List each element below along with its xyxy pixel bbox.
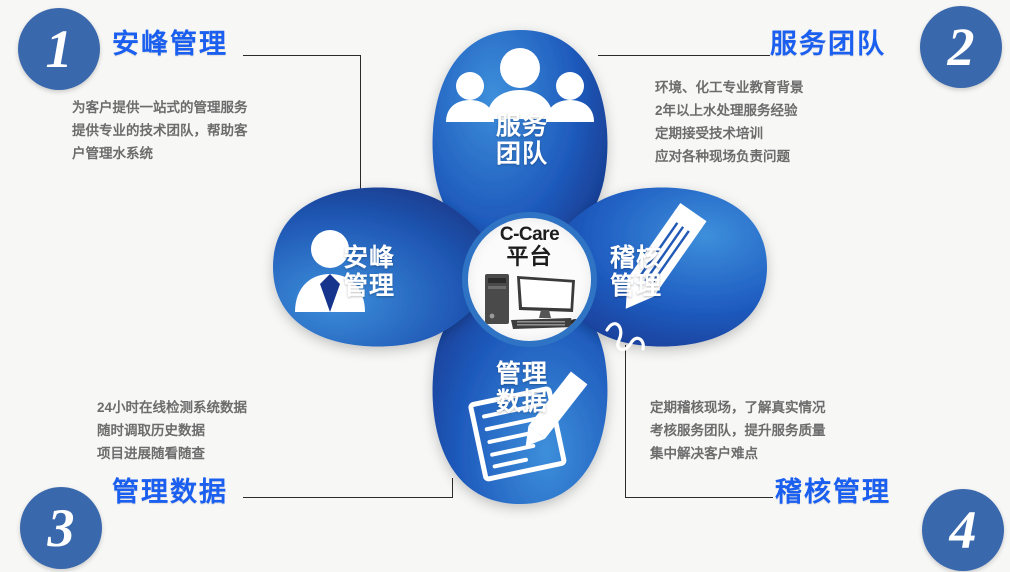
section-body-4: 定期稽核现场，了解真实情况 考核服务团队，提升服务质量 集中解决客户难点 (650, 396, 826, 465)
section-number-3: 3 (20, 487, 102, 569)
hub-subtitle: 平台 (468, 245, 591, 269)
section-body-3: 24小时在线检测系统数据 随时调取历史数据 项目进展随看随查 (97, 396, 247, 465)
body-line: 考核服务团队，提升服务质量 (650, 419, 826, 442)
hub-title: C-Care (468, 225, 591, 245)
body-line: 定期稽核现场，了解真实情况 (650, 396, 826, 419)
section-heading-4: 稽核管理 (775, 470, 891, 509)
section-heading-3: 管理数据 (112, 470, 228, 509)
body-line: 定期接受技术培训 (655, 122, 804, 145)
body-line: 项目进展随看随查 (97, 442, 247, 465)
body-line: 环境、化工专业教育背景 (655, 76, 804, 99)
body-line: 24小时在线检测系统数据 (97, 396, 247, 419)
body-line: 应对各种现场负责问题 (655, 145, 804, 168)
body-line: 2年以上水处理服务经验 (655, 99, 804, 122)
section-heading-2: 服务团队 (770, 22, 886, 61)
infographic-canvas: 服务 团队 管理 数据 安峰 管理 稽核 管理 C-Care 平台 (0, 0, 1010, 572)
desktop-computer-icon (481, 270, 579, 332)
body-line: 集中解决客户难点 (650, 442, 826, 465)
body-line: 户管理水系统 (72, 142, 248, 165)
section-number-2: 2 (920, 6, 1002, 88)
center-hub[interactable]: C-Care 平台 (462, 212, 597, 347)
section-body-2: 环境、化工专业教育背景 2年以上水处理服务经验 定期接受技术培训 应对各种现场负… (655, 76, 804, 168)
body-line: 提供专业的技术团队，帮助客 (72, 119, 248, 142)
body-line: 随时调取历史数据 (97, 419, 247, 442)
section-body-1: 为客户提供一站式的管理服务 提供专业的技术团队，帮助客 户管理水系统 (72, 96, 248, 165)
section-number-4: 4 (922, 489, 1004, 571)
body-line: 为客户提供一站式的管理服务 (72, 96, 248, 119)
section-number-1: 1 (18, 8, 100, 90)
section-heading-1: 安峰管理 (112, 22, 228, 61)
